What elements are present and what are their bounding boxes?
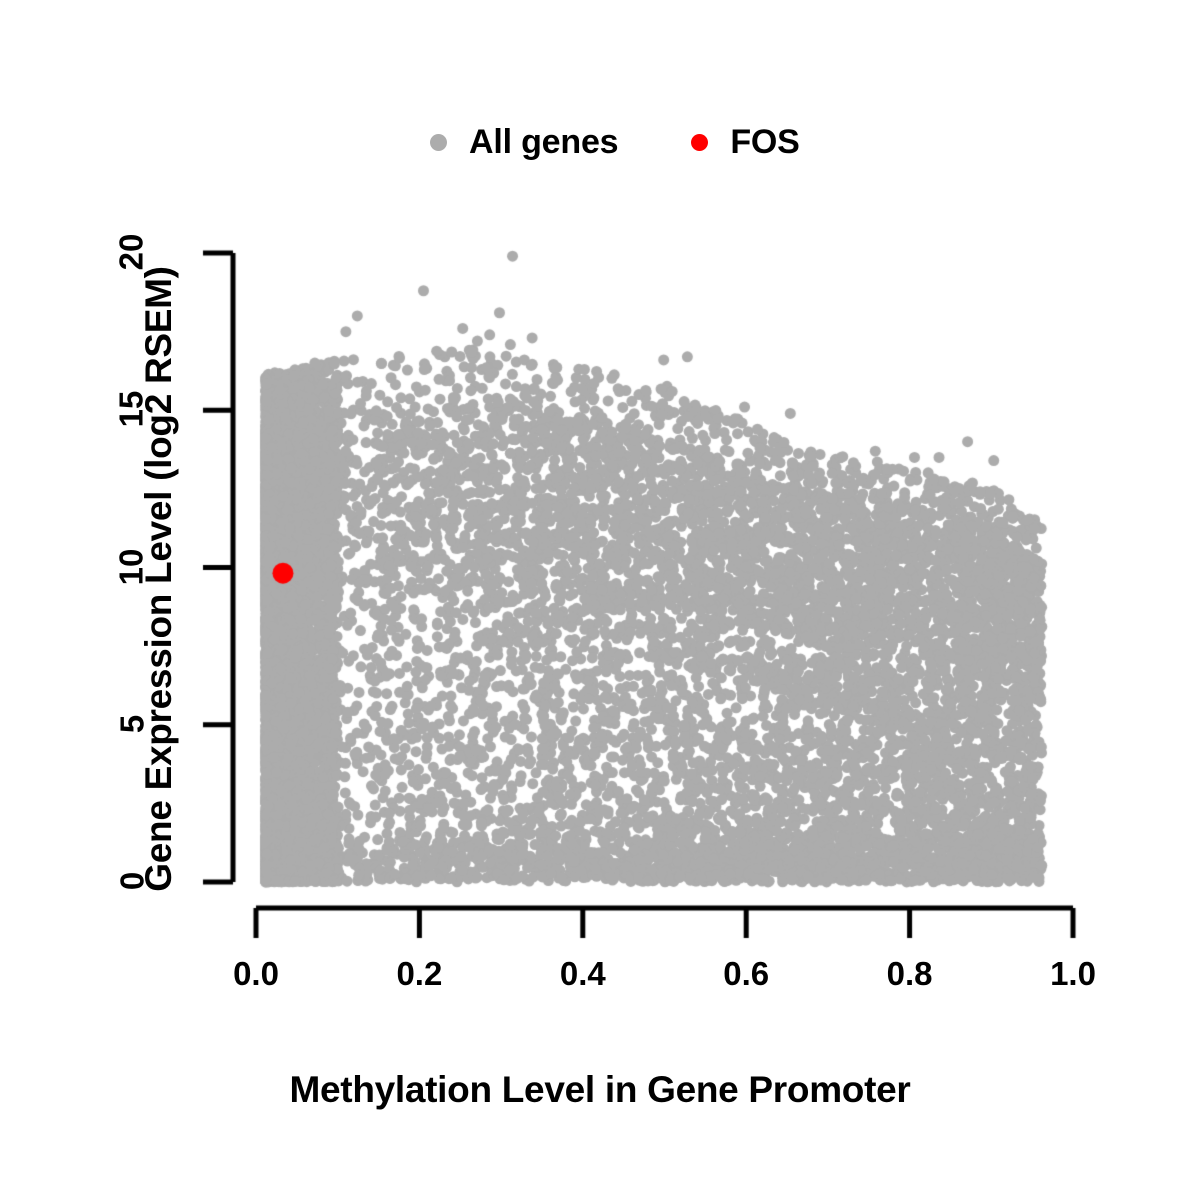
x-axis-title: Methylation Level in Gene Promoter [0, 1069, 1200, 1111]
x-tick-label: 1.0 [1050, 955, 1096, 993]
legend-marker-all-genes-icon [430, 134, 447, 151]
scatter-plot-figure: All genes FOS Methylation Level in Gene … [0, 0, 1200, 1200]
scatter-plot-canvas [0, 0, 1200, 1200]
y-tick-label: 5 [113, 715, 151, 733]
y-tick-label: 0 [113, 872, 151, 890]
legend-entry-fos: FOS [691, 123, 799, 162]
y-tick-label: 10 [113, 548, 151, 585]
x-tick-label: 0.8 [887, 955, 933, 993]
legend-marker-fos-icon [691, 134, 708, 151]
x-tick-label: 0.4 [560, 955, 606, 993]
legend-entry-all-genes: All genes [430, 123, 618, 162]
y-tick-label: 15 [113, 391, 151, 428]
y-tick-label: 20 [113, 234, 151, 271]
x-tick-label: 0.2 [396, 955, 442, 993]
legend-label-fos: FOS [730, 123, 799, 162]
legend-label-all-genes: All genes [469, 123, 618, 162]
x-tick-label: 0.6 [723, 955, 769, 993]
x-tick-label: 0.0 [233, 955, 279, 993]
legend: All genes FOS [430, 112, 800, 172]
